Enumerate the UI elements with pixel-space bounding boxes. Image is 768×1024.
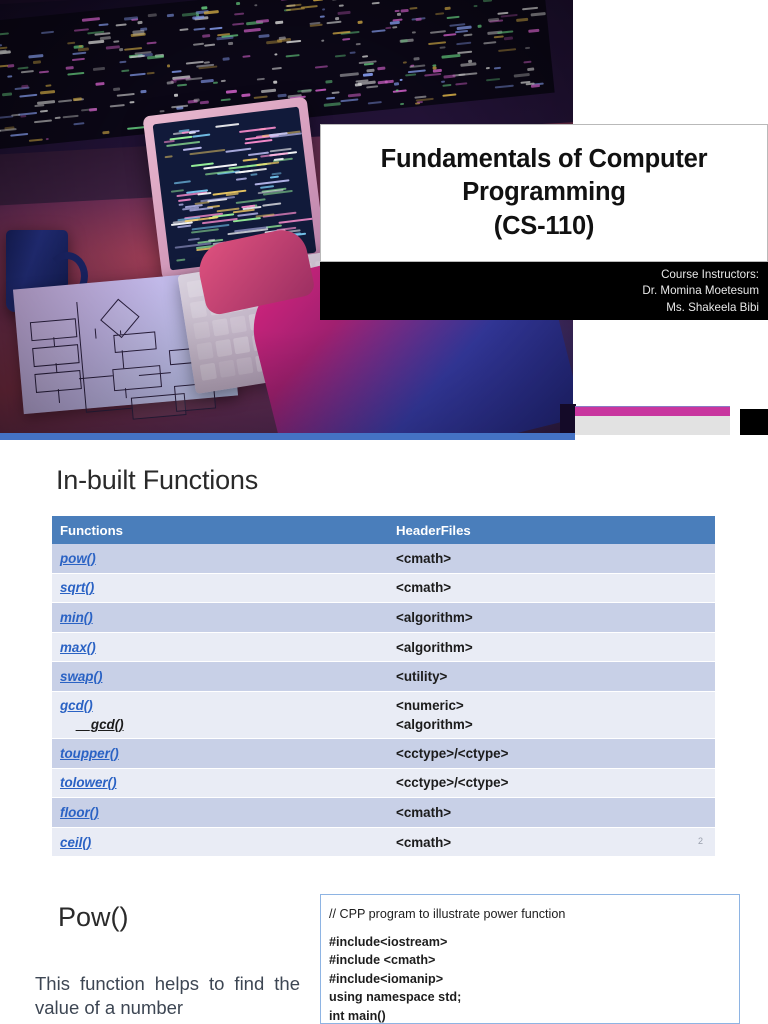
function-link[interactable]: tolower() [60, 775, 117, 790]
title-line-3: (CS-110) [494, 212, 594, 240]
page-title: Fundamentals of Computer Programming (CS… [381, 143, 708, 243]
table-head: Functions HeaderFiles [52, 516, 715, 544]
table-header-row: Functions HeaderFiles [52, 516, 715, 544]
cell-function: gcd()__gcd() [52, 691, 390, 738]
code-line: #include <cmath> [329, 951, 739, 970]
function-link[interactable]: sqrt() [60, 580, 94, 595]
cell-function: ceil() [52, 827, 390, 857]
slide-number: 2 [698, 836, 703, 846]
title-line-2: Programming [462, 178, 626, 206]
code-line: #include<iostream> [329, 933, 739, 952]
functions-slide-title: In-built Functions [56, 465, 258, 496]
cell-function: tolower() [52, 768, 390, 798]
table-row: tolower()<cctype>/<ctype> [52, 768, 715, 798]
pow-description: This function helps to find the value of… [35, 972, 300, 1019]
table-row: gcd()__gcd()<numeric><algorithm> [52, 691, 715, 738]
cell-function: toupper() [52, 738, 390, 768]
table-row: swap()<utility> [52, 662, 715, 692]
code-sample-box: // CPP program to illustrate power funct… [320, 894, 740, 1024]
cell-headerfile: <cmath> [390, 573, 715, 603]
cell-headerfile: <algorithm> [390, 632, 715, 662]
table-row: sqrt()<cmath> [52, 573, 715, 603]
title-line-1: Fundamentals of Computer [381, 145, 708, 173]
cell-headerfile: <cctype>/<ctype> [390, 768, 715, 798]
cell-headerfile: <utility> [390, 662, 715, 692]
cell-headerfile: <cmath> [390, 798, 715, 828]
function-link[interactable]: floor() [60, 805, 99, 820]
function-link[interactable]: pow() [60, 551, 96, 566]
table-row: max()<algorithm> [52, 632, 715, 662]
cell-headerfile: <cmath> [390, 827, 715, 857]
cell-function: max() [52, 632, 390, 662]
table-row: floor()<cmath> [52, 798, 715, 828]
column-header-functions: Functions [52, 516, 390, 544]
cell-headerfile: <cmath> [390, 544, 715, 573]
code-line: using namespace std; [329, 988, 739, 1007]
decor-dark-block [560, 404, 576, 435]
cell-headerfile: <numeric><algorithm> [390, 691, 715, 738]
cell-function: sqrt() [52, 573, 390, 603]
cell-headerfile: <algorithm> [390, 603, 715, 633]
decor-black-square [740, 409, 768, 435]
table-row: toupper()<cctype>/<ctype> [52, 738, 715, 768]
slide-separator [0, 440, 768, 460]
presentation-page: Fundamentals of Computer Programming (CS… [0, 0, 768, 1024]
inbuilt-functions-table: Functions HeaderFiles pow()<cmath>sqrt()… [52, 516, 715, 857]
instructors-label: Course Instructors: [320, 267, 759, 283]
cell-function: floor() [52, 798, 390, 828]
pow-slide-title: Pow() [58, 902, 129, 933]
instructor-name-2: Ms. Shakeela Bibi [320, 300, 759, 316]
code-line: // CPP program to illustrate power funct… [329, 905, 739, 924]
function-link[interactable]: swap() [60, 669, 102, 684]
column-header-headerfiles: HeaderFiles [390, 516, 715, 544]
code-line: int main() [329, 1007, 739, 1024]
table-row: pow()<cmath> [52, 544, 715, 573]
cell-headerfile: <cctype>/<ctype> [390, 738, 715, 768]
function-link-alt[interactable]: __gcd() [76, 715, 124, 734]
table-body: pow()<cmath>sqrt()<cmath>min()<algorithm… [52, 544, 715, 857]
function-link[interactable]: ceil() [60, 835, 91, 850]
decor-grey-bar [575, 416, 730, 435]
cell-function: swap() [52, 662, 390, 692]
function-link[interactable]: min() [60, 610, 93, 625]
function-link[interactable]: toupper() [60, 746, 119, 761]
title-slide: Fundamentals of Computer Programming (CS… [0, 0, 768, 460]
cell-function: min() [52, 603, 390, 633]
table-row: min()<algorithm> [52, 603, 715, 633]
decor-blue-strip [0, 433, 575, 440]
table-row: ceil()<cmath> [52, 827, 715, 857]
pow-slide: Pow() This function helps to find the va… [0, 868, 768, 1024]
function-link[interactable]: gcd() [60, 698, 93, 713]
instructors-bar: Course Instructors: Dr. Momina Moetesum … [320, 262, 768, 320]
title-card: Fundamentals of Computer Programming (CS… [320, 124, 768, 262]
function-link[interactable]: max() [60, 640, 96, 655]
cell-function: pow() [52, 544, 390, 573]
code-blank-line [329, 924, 739, 933]
instructor-name-1: Dr. Momina Moetesum [320, 283, 759, 299]
code-line: #include<iomanip> [329, 970, 739, 989]
